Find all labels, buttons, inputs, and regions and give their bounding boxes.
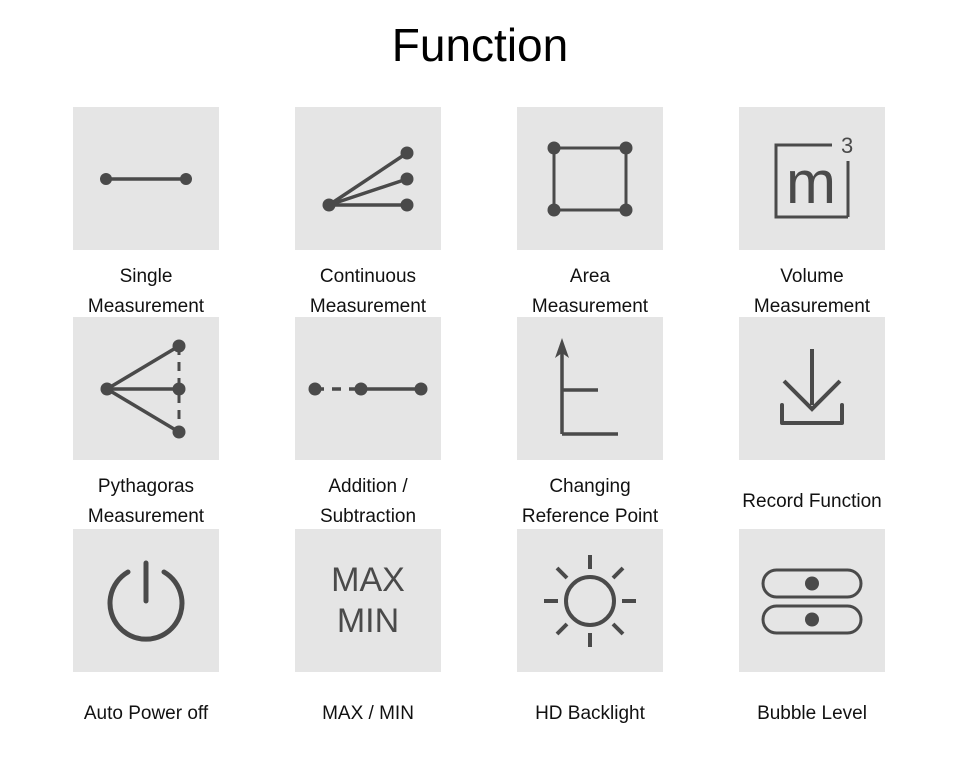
addition-subtraction-icon [303, 369, 433, 409]
label-line-1: Pythagoras [88, 472, 204, 502]
function-cell-record-function[interactable]: Record Function [739, 317, 885, 517]
label-line-1: Auto Power off [84, 699, 208, 729]
function-grid-row: Single Measurement [73, 107, 885, 317]
function-cell-volume-measurement[interactable]: m 3 Volume Measurement [739, 107, 885, 322]
max-text: MAX [331, 560, 405, 601]
function-cell-label: Bubble Level [757, 699, 867, 729]
function-grid-row: Pythagoras Measurement [73, 317, 885, 529]
label-line-1: Volume [754, 262, 870, 292]
function-grid-row: Auto Power off MAX MIN MAX / MIN [73, 529, 885, 739]
function-cell-label: Volume Measurement [754, 262, 870, 322]
volume-measurement-tile[interactable]: m 3 [739, 107, 885, 250]
bubble-level-tile[interactable] [739, 529, 885, 672]
record-function-icon [762, 339, 862, 439]
auto-power-off-icon [96, 551, 196, 651]
function-cell-label: Area Measurement [532, 262, 648, 322]
changing-reference-point-icon [540, 334, 640, 444]
label-line-1: Addition / [320, 472, 416, 502]
function-cell-label: HD Backlight [535, 699, 645, 729]
label-line-1: HD Backlight [535, 699, 645, 729]
function-cell-continuous-measurement[interactable]: Continuous Measurement [295, 107, 441, 322]
function-cell-bubble-level[interactable]: Bubble Level [739, 529, 885, 729]
label-line-1: Record Function [742, 487, 881, 517]
function-cell-pythagoras-measurement[interactable]: Pythagoras Measurement [73, 317, 219, 532]
function-cell-area-measurement[interactable]: Area Measurement [517, 107, 663, 322]
function-cell-auto-power-off[interactable]: Auto Power off [73, 529, 219, 729]
bubble-level-icon [757, 564, 867, 638]
max-min-tile[interactable]: MAX MIN [295, 529, 441, 672]
volume-measurement-icon: m 3 [762, 129, 862, 229]
label-line-2: Subtraction [320, 502, 416, 532]
function-overview-page: Function Single Measurement [0, 0, 960, 764]
hd-backlight-tile[interactable] [517, 529, 663, 672]
continuous-measurement-icon [313, 129, 423, 229]
record-function-tile[interactable] [739, 317, 885, 460]
volume-unit-exponent: 3 [841, 135, 853, 157]
label-line-2: Measurement [88, 502, 204, 532]
label-line-1: Changing [522, 472, 658, 502]
function-cell-label: Record Function [742, 487, 881, 517]
function-cell-label: Changing Reference Point [522, 472, 658, 532]
single-measurement-icon [91, 149, 201, 209]
function-cell-label: Continuous Measurement [310, 262, 426, 322]
label-line-1: MAX / MIN [322, 699, 414, 729]
single-measurement-tile[interactable] [73, 107, 219, 250]
pythagoras-measurement-tile[interactable] [73, 317, 219, 460]
function-cell-label: Addition / Subtraction [320, 472, 416, 532]
function-cell-label: Single Measurement [88, 262, 204, 322]
changing-reference-point-tile[interactable] [517, 317, 663, 460]
area-measurement-tile[interactable] [517, 107, 663, 250]
label-line-2: Reference Point [522, 502, 658, 532]
area-measurement-icon [540, 134, 640, 224]
function-cell-label: MAX / MIN [322, 699, 414, 729]
label-line-1: Continuous [310, 262, 426, 292]
addition-subtraction-tile[interactable] [295, 317, 441, 460]
function-cell-single-measurement[interactable]: Single Measurement [73, 107, 219, 322]
function-grid: Single Measurement [73, 107, 885, 739]
function-cell-label: Auto Power off [84, 699, 208, 729]
function-cell-changing-reference-point[interactable]: Changing Reference Point [517, 317, 663, 532]
label-line-1: Bubble Level [757, 699, 867, 729]
function-cell-label: Pythagoras Measurement [88, 472, 204, 532]
function-cell-max-min[interactable]: MAX MIN MAX / MIN [295, 529, 441, 729]
hd-backlight-icon [538, 549, 642, 653]
pythagoras-measurement-icon [91, 334, 201, 444]
max-min-icon: MAX MIN [331, 560, 405, 642]
volume-unit-letter: m [786, 153, 836, 213]
min-text: MIN [331, 601, 405, 642]
page-title: Function [0, 17, 960, 73]
continuous-measurement-tile[interactable] [295, 107, 441, 250]
function-cell-addition-subtraction[interactable]: Addition / Subtraction [295, 317, 441, 532]
auto-power-off-tile[interactable] [73, 529, 219, 672]
label-line-1: Single [88, 262, 204, 292]
label-line-1: Area [532, 262, 648, 292]
function-cell-hd-backlight[interactable]: HD Backlight [517, 529, 663, 729]
